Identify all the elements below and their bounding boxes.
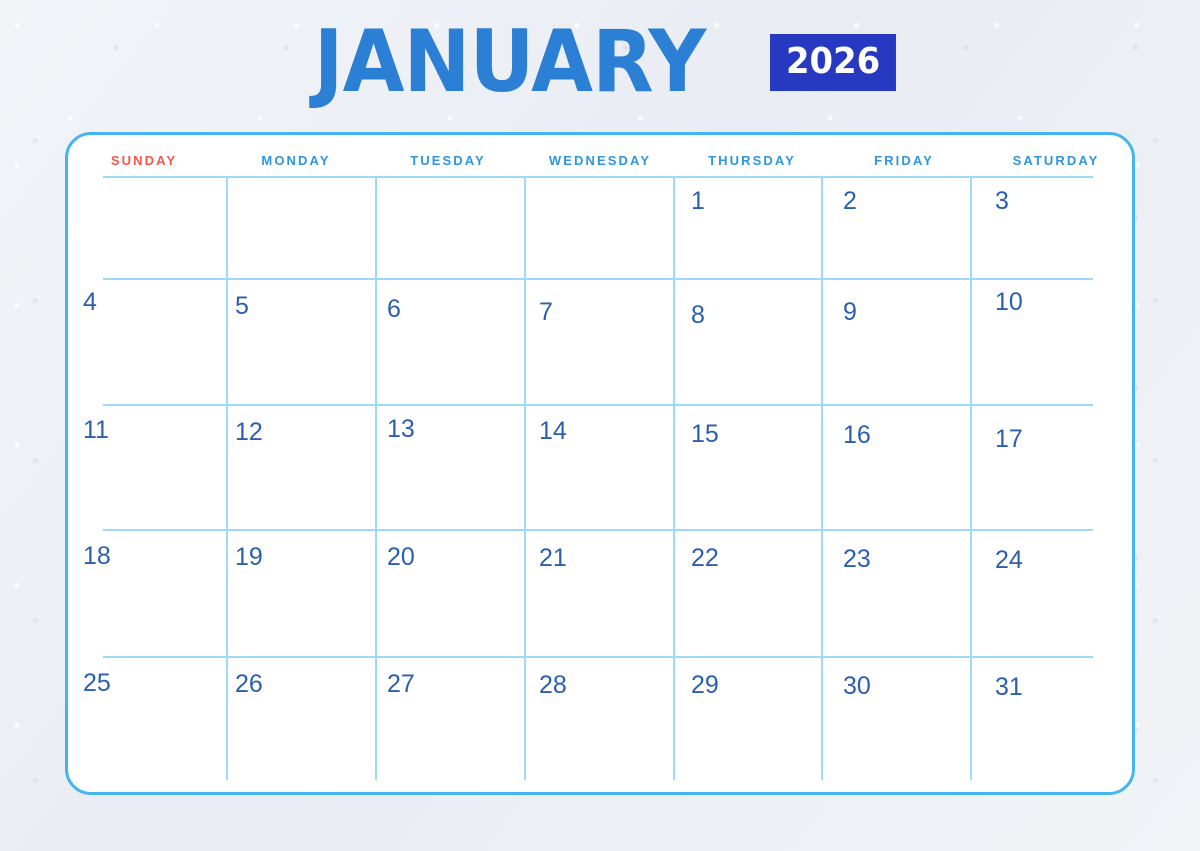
day-cell[interactable]: 9 bbox=[828, 278, 980, 406]
day-cell[interactable]: 29 bbox=[676, 659, 828, 780]
day-number: 3 bbox=[995, 189, 1009, 214]
day-number: 10 bbox=[995, 290, 1023, 315]
day-cell[interactable] bbox=[372, 176, 524, 278]
weekday-header-wednesday: WEDNESDAY bbox=[524, 135, 676, 179]
weekday-header-friday: FRIDAY bbox=[828, 135, 980, 179]
week-row: 1 2 3 bbox=[68, 176, 1132, 278]
weekday-header-thursday: THURSDAY bbox=[676, 135, 828, 179]
day-number: 5 bbox=[235, 294, 249, 319]
day-cell[interactable]: 10 bbox=[980, 278, 1132, 406]
day-cell[interactable]: 11 bbox=[68, 406, 220, 532]
day-cell[interactable]: 25 bbox=[68, 659, 220, 780]
day-number: 30 bbox=[843, 674, 871, 699]
year-badge: 2026 bbox=[770, 34, 896, 91]
day-number: 21 bbox=[539, 546, 567, 571]
day-cell[interactable] bbox=[220, 176, 372, 278]
day-cell[interactable]: 28 bbox=[524, 659, 676, 780]
day-cell[interactable]: 13 bbox=[372, 406, 524, 532]
week-row: 25 26 27 28 29 30 31 bbox=[68, 659, 1132, 780]
day-cell[interactable]: 19 bbox=[220, 532, 372, 659]
day-number: 26 bbox=[235, 672, 263, 697]
weekday-label: MONDAY bbox=[261, 153, 330, 168]
day-cell[interactable]: 12 bbox=[220, 406, 372, 532]
weekday-label: SATURDAY bbox=[1013, 153, 1100, 168]
day-number: 2 bbox=[843, 189, 857, 214]
weekday-label: WEDNESDAY bbox=[549, 153, 651, 168]
day-number: 18 bbox=[83, 544, 111, 569]
day-cell[interactable]: 17 bbox=[980, 406, 1132, 532]
weekday-header-saturday: SATURDAY bbox=[980, 135, 1132, 179]
day-number: 13 bbox=[387, 417, 415, 442]
week-row: 4 5 6 7 8 9 10 bbox=[68, 278, 1132, 406]
weekday-header-row: SUNDAY MONDAY TUESDAY WEDNESDAY THURSDAY… bbox=[68, 135, 1132, 179]
day-number: 11 bbox=[83, 418, 109, 443]
day-cell[interactable]: 6 bbox=[372, 278, 524, 406]
calendar-grid-card: SUNDAY MONDAY TUESDAY WEDNESDAY THURSDAY… bbox=[65, 132, 1135, 795]
day-cell[interactable]: 31 bbox=[980, 659, 1132, 780]
day-number: 28 bbox=[539, 673, 567, 698]
day-cell[interactable]: 5 bbox=[220, 278, 372, 406]
weekday-header-tuesday: TUESDAY bbox=[372, 135, 524, 179]
day-number: 24 bbox=[995, 548, 1023, 573]
day-cell[interactable]: 2 bbox=[828, 176, 980, 278]
day-number: 8 bbox=[691, 303, 705, 328]
day-number: 23 bbox=[843, 547, 871, 572]
day-number: 4 bbox=[83, 290, 97, 315]
day-cell[interactable]: 27 bbox=[372, 659, 524, 780]
day-cell[interactable]: 14 bbox=[524, 406, 676, 532]
week-row: 18 19 20 21 22 23 24 bbox=[68, 532, 1132, 659]
day-number: 15 bbox=[691, 422, 719, 447]
day-number: 1 bbox=[691, 189, 705, 214]
day-cell[interactable]: 18 bbox=[68, 532, 220, 659]
day-number: 9 bbox=[843, 300, 857, 325]
weekday-label: THURSDAY bbox=[708, 153, 796, 168]
day-number: 19 bbox=[235, 545, 263, 570]
day-cell[interactable]: 16 bbox=[828, 406, 980, 532]
day-cell[interactable]: 20 bbox=[372, 532, 524, 659]
day-number: 22 bbox=[691, 546, 719, 571]
weekday-label: FRIDAY bbox=[874, 153, 934, 168]
day-cell[interactable]: 15 bbox=[676, 406, 828, 532]
day-cell[interactable] bbox=[68, 176, 220, 278]
week-row: 11 12 13 14 15 16 17 bbox=[68, 406, 1132, 532]
day-number: 12 bbox=[235, 420, 263, 445]
day-number: 14 bbox=[539, 419, 567, 444]
day-number: 27 bbox=[387, 672, 415, 697]
day-number: 17 bbox=[995, 427, 1023, 452]
day-number: 16 bbox=[843, 423, 871, 448]
day-cell[interactable]: 3 bbox=[980, 176, 1132, 278]
day-cell[interactable]: 21 bbox=[524, 532, 676, 659]
day-cell[interactable]: 24 bbox=[980, 532, 1132, 659]
day-cell[interactable]: 7 bbox=[524, 278, 676, 406]
weekday-label: SUNDAY bbox=[111, 153, 177, 168]
calendar-header: JANUARY 2026 bbox=[0, 14, 1200, 110]
day-number: 29 bbox=[691, 673, 719, 698]
day-cell[interactable]: 1 bbox=[676, 176, 828, 278]
day-number: 7 bbox=[539, 300, 553, 325]
day-cell[interactable]: 30 bbox=[828, 659, 980, 780]
weekday-header-sunday: SUNDAY bbox=[68, 135, 220, 179]
day-cell[interactable] bbox=[524, 176, 676, 278]
calendar-days-layer: 1 2 3 4 5 6 7 8 9 10 11 12 13 14 15 16 1… bbox=[68, 176, 1132, 792]
day-number: 31 bbox=[995, 675, 1023, 700]
calendar-page: JANUARY 2026 SUNDAY MONDAY TUESDAY WEDNE… bbox=[0, 0, 1200, 851]
day-cell[interactable]: 4 bbox=[68, 278, 220, 406]
day-cell[interactable]: 23 bbox=[828, 532, 980, 659]
page-title: JANUARY bbox=[314, 19, 706, 105]
day-cell[interactable]: 8 bbox=[676, 278, 828, 406]
weekday-header-monday: MONDAY bbox=[220, 135, 372, 179]
day-cell[interactable]: 22 bbox=[676, 532, 828, 659]
day-number: 25 bbox=[83, 671, 111, 696]
day-cell[interactable]: 26 bbox=[220, 659, 372, 780]
day-number: 6 bbox=[387, 297, 401, 322]
day-number: 20 bbox=[387, 545, 415, 570]
weekday-label: TUESDAY bbox=[410, 153, 486, 168]
